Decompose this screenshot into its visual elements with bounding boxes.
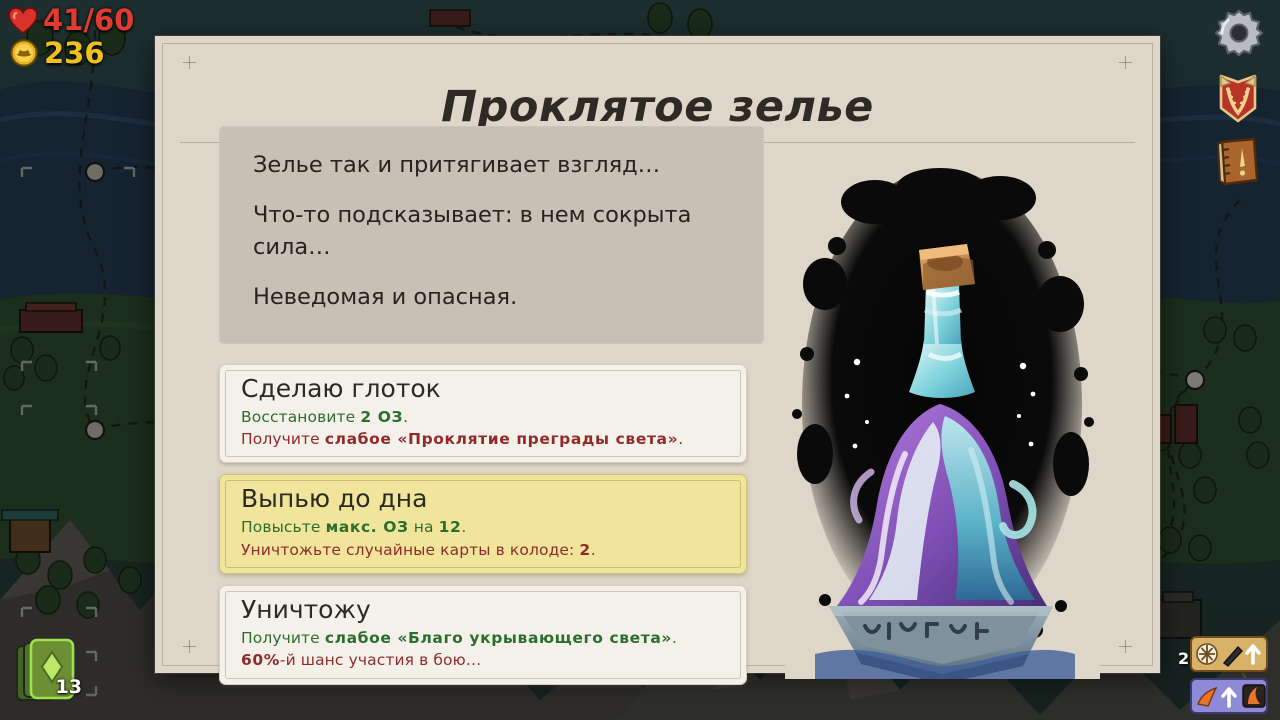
panel-corner-tick-bottom-left [183,640,196,653]
cursed-potion-illustration [785,154,1100,679]
hp-value: 41/60 [43,3,134,37]
event-dialog-panel: Проклятое зелье Зелье так и притягивает … [155,36,1160,673]
option-effect-segment: . [591,541,596,559]
option-effect-segment: Получите [241,629,325,647]
option-effect-segment: 12 [439,518,462,536]
description-line: Что-то подсказывает: в нем сокрыта сила… [253,200,730,264]
deck-counter[interactable]: 13 [14,632,86,710]
option-effect-line: 60%-й шанс участия в бою… [241,649,725,671]
relic-bar-tan-icon [1190,636,1268,672]
event-description-box: Зелье так и притягивает взгляд…Что-то по… [219,126,764,344]
option-effect-segment: Уничтожьте случайные карты в колоде: [241,541,579,559]
option-title: Выпью до дна [241,485,725,514]
event-title: Проклятое зелье [155,82,1160,132]
relic-count-label: 2 [1178,649,1189,668]
banner-button[interactable] [1218,72,1258,124]
panel-corner-tick-top-right [1119,56,1132,69]
option-effect-segment: Повысьте [241,518,326,536]
gold-value: 236 [44,36,105,70]
option-effect-line: Получите слабое «Проклятие преграды свет… [241,428,725,450]
event-left-column: Зелье так и притягивает взгляд…Что-то по… [219,126,782,696]
option-effect-segment: . [461,518,466,536]
gold-indicator: 236 [10,36,105,70]
card-deck-icon [14,632,86,710]
relic-bar-primary[interactable]: 2 [1190,636,1268,672]
option-effect-line: Уничтожьте случайные карты в колоде: 2. [241,539,725,561]
description-line: Неведомая и опасная. [253,282,730,314]
heart-icon [8,7,38,34]
option-effect-segment: слабое «Благо укрывающего света» [325,629,672,647]
option-title: Уничтожу [241,596,725,625]
coin-icon [10,39,38,67]
option-effect-segment: 60% [241,651,280,669]
gear-icon [1214,8,1264,58]
option-effect-segment: макс. ОЗ [326,518,409,536]
option-effect-segment: Восстановите [241,408,360,426]
banner-icon [1218,72,1258,124]
option-effect-line: Повысьте макс. ОЗ на 12. [241,516,725,538]
option-effect-segment: 2 [579,541,590,559]
settings-button[interactable] [1214,8,1264,58]
option-effect-segment: . [403,408,408,426]
option-effect-line: Получите слабое «Благо укрывающего света… [241,627,725,649]
option-effect-segment: Получите [241,430,325,448]
event-option-2[interactable]: Выпью до днаПовысьте макс. ОЗ на 12.Унич… [219,474,747,574]
panel-corner-tick-top-left [183,56,196,69]
option-title: Сделаю глоток [241,375,725,404]
hp-indicator: 41/60 [8,3,134,37]
book-icon [1216,136,1260,188]
journal-button[interactable] [1216,136,1260,188]
option-effect-segment: слабое «Проклятие преграды света» [325,430,678,448]
option-effect-segment: на [409,518,439,536]
relic-bar-purple-icon [1190,678,1268,714]
option-effect-segment: -й шанс участия в бою… [280,651,481,669]
option-effect-segment: 2 ОЗ [360,408,403,426]
deck-count-label: 13 [56,676,82,698]
description-line: Зелье так и притягивает взгляд… [253,150,730,182]
event-options-list: Сделаю глотокВосстановите 2 ОЗ.Получите … [219,364,747,685]
event-option-3[interactable]: УничтожуПолучите слабое «Благо укрывающе… [219,585,747,685]
option-effect-line: Восстановите 2 ОЗ. [241,406,725,428]
option-effect-segment: . [672,629,677,647]
relic-bar-secondary[interactable] [1190,678,1268,714]
event-option-1[interactable]: Сделаю глотокВосстановите 2 ОЗ.Получите … [219,364,747,464]
option-effect-segment: . [678,430,683,448]
panel-corner-tick-bottom-right [1119,640,1132,653]
